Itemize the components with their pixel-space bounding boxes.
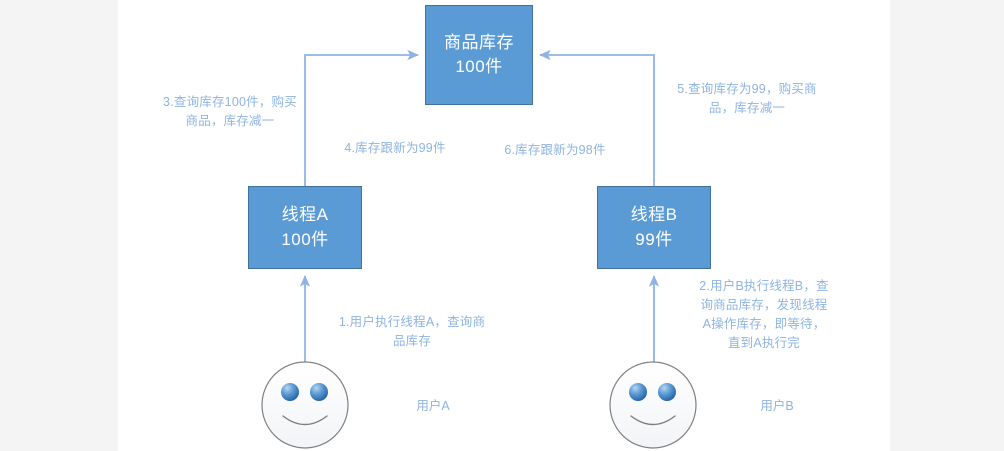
edge-label-step6: 6.库存跟新为98件 <box>490 141 620 160</box>
inventory-title: 商品库存 <box>444 31 514 55</box>
edge-label-step4: 4.库存跟新为99件 <box>330 139 460 158</box>
edge-label-step3: 3.查询库存100件，购买商品，库存减一 <box>158 93 302 131</box>
thread-b-node[interactable]: 线程B 99件 <box>597 186 711 269</box>
concurrency-diagram: 商品库存 100件 线程A 100件 线程B 99件 3.查询库存100件，购买… <box>0 0 1004 451</box>
connector-thread-b-to-inventory <box>540 55 654 186</box>
user-b-label: 用户B <box>742 395 812 414</box>
edge-label-step5: 5.查询库存为99，购买商品，库存减一 <box>667 80 827 118</box>
inventory-count: 100件 <box>455 55 502 79</box>
connector-thread-a-to-inventory <box>305 55 418 186</box>
inventory-node[interactable]: 商品库存 100件 <box>425 5 533 105</box>
thread-a-count: 100件 <box>281 228 328 252</box>
edge-label-step2: 2.用户B执行线程B，查询商品库存，发现线程A操作库存，即等待，直到A执行完 <box>697 277 831 353</box>
thread-a-title: 线程A <box>282 203 329 227</box>
thread-a-node[interactable]: 线程A 100件 <box>248 186 362 269</box>
user-a-smiley-icon <box>262 362 348 448</box>
edge-label-step1: 1.用户执行线程A，查询商品库存 <box>338 313 486 351</box>
thread-b-count: 99件 <box>635 228 672 252</box>
thread-b-title: 线程B <box>631 203 678 227</box>
user-a-label: 用户A <box>398 395 468 414</box>
user-b-smiley-icon <box>610 362 696 448</box>
